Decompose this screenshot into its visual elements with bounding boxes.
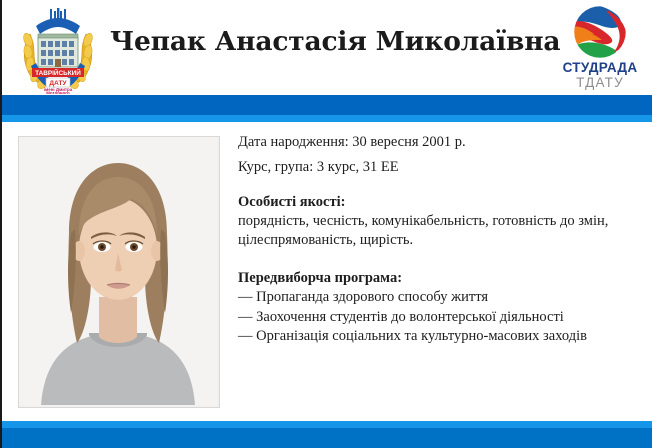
tdatu-university-emblem: ТАВРІЙСЬКИЙ ДАТУ імені Дмитра Моторного <box>14 4 102 94</box>
emblem-abbr-text: ДАТУ <box>49 80 67 87</box>
portrait-illustration <box>19 137 217 405</box>
poster-header: ТАВРІЙСЬКИЙ ДАТУ імені Дмитра Моторного … <box>2 0 652 95</box>
election-program-heading: Передвиборча програма: <box>238 268 644 288</box>
header-divider-light-band <box>2 115 652 122</box>
emblem-ribbon-text: ТАВРІЙСЬКИЙ <box>35 68 81 77</box>
header-divider-dark-band <box>2 95 652 115</box>
personal-qualities-section: Особисті якості: порядність, чесність, к… <box>238 192 644 250</box>
studrada-title: СТУДРАДА <box>554 61 646 75</box>
program-item: — Організація соціальних та культурно-ма… <box>238 327 644 347</box>
birth-date-line: Дата народження: 30 вересня 2001 р. <box>238 130 644 155</box>
election-program-section: Передвиборча програма: — Пропаганда здор… <box>238 268 644 347</box>
program-item: — Пропаганда здорового способу життя <box>238 288 644 308</box>
emblem-graphic: ТАВРІЙСЬКИЙ ДАТУ імені Дмитра Моторного <box>14 4 102 94</box>
footer-divider-light-band <box>2 421 652 428</box>
course-group-line: Курс, група: 3 курс, 31 ЕЕ <box>238 155 644 180</box>
program-item: — Заохочення студентів до волонтерської … <box>238 308 644 328</box>
footer-divider-dark-band <box>2 428 652 448</box>
studrada-swirl-logo <box>572 4 628 60</box>
candidate-info: Дата народження: 30 вересня 2001 р. Курс… <box>238 130 644 347</box>
personal-qualities-text: порядність, чесність, комунікабельність,… <box>238 212 638 250</box>
studrada-brand: СТУДРАДА ТДАТУ <box>554 4 646 96</box>
studrada-subtitle: ТДАТУ <box>554 75 646 90</box>
emblem-dedication-line2: Моторного <box>46 91 70 95</box>
candidate-portrait <box>18 136 220 408</box>
personal-qualities-heading: Особисті якості: <box>238 192 644 212</box>
candidate-poster: ТАВРІЙСЬКИЙ ДАТУ імені Дмитра Моторного … <box>0 0 652 448</box>
page-title: Чепак Анастасія Миколаївна <box>110 26 560 57</box>
